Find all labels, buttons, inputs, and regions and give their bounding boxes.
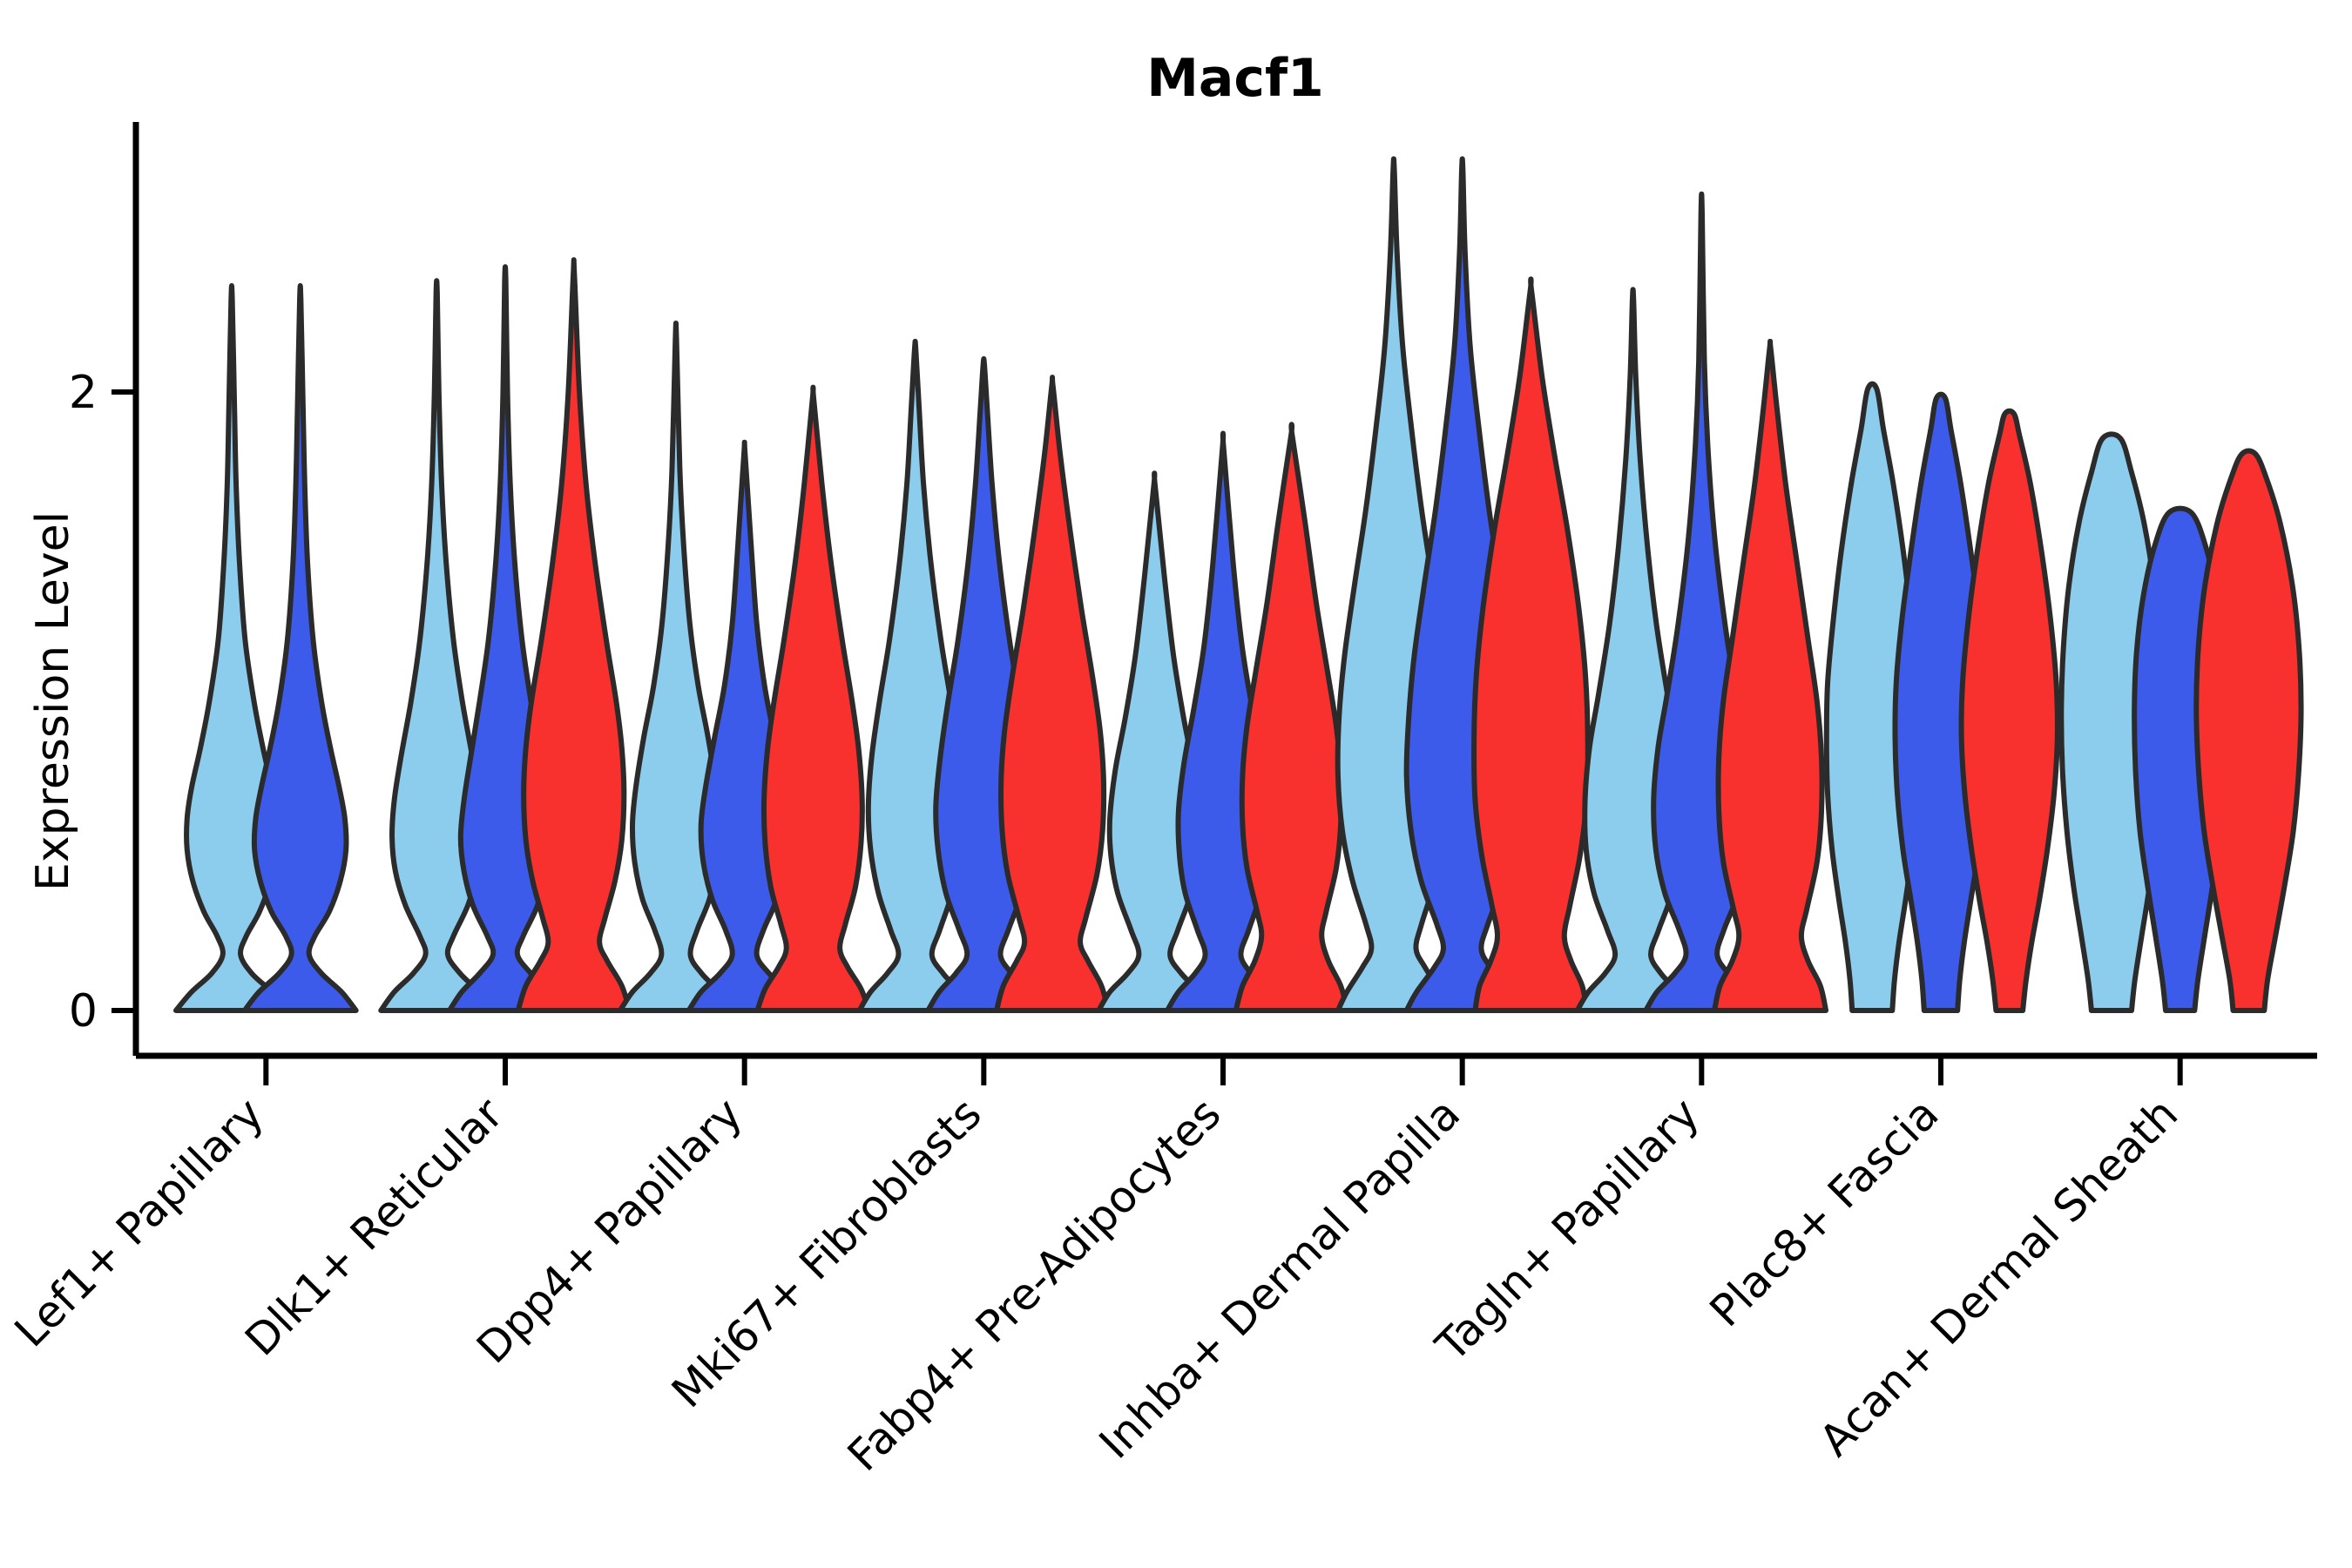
y-tick-label: 2 xyxy=(69,367,98,419)
violin-plot-svg: Macf1 Expression Level 20 Lef1+ Papillar… xyxy=(0,0,2352,1568)
violin-group xyxy=(1827,384,2058,1010)
y-axis-label: Expression Level xyxy=(27,511,79,891)
y-tick-label: 0 xyxy=(69,985,98,1037)
figure-root: Macf1 Expression Level 20 Lef1+ Papillar… xyxy=(0,0,2352,1568)
page-title: Macf1 xyxy=(1146,48,1324,109)
violin-group xyxy=(2061,434,2301,1010)
